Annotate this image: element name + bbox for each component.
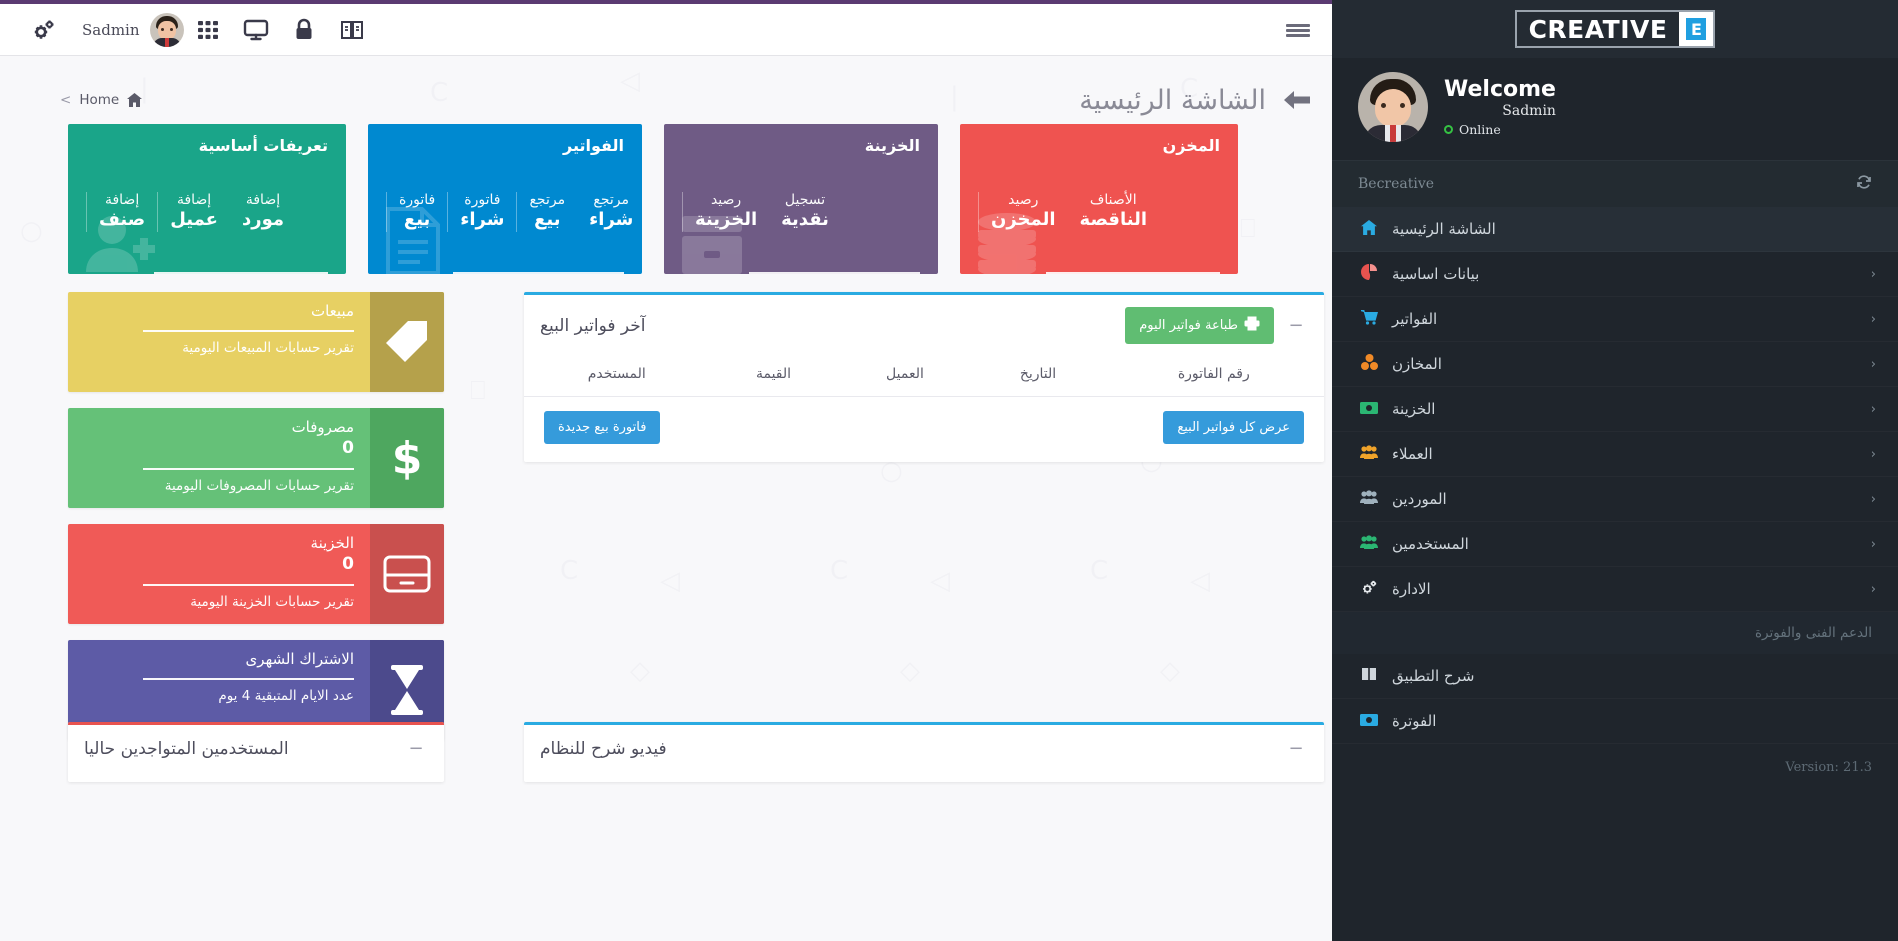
company-bar: Becreative (1332, 160, 1898, 207)
sidebar-item-label: العملاء (1392, 445, 1433, 463)
company-label: Becreative (1358, 176, 1434, 192)
kpi-card-treasury[interactable]: الخزينة رصيد الخزينة تسجيل نقدية (664, 124, 938, 274)
header-user-name: Sadmin (68, 21, 150, 39)
sidebar-section-support: الدعم الفنى والفوترة (1332, 612, 1898, 654)
minus-icon[interactable]: − (408, 740, 424, 758)
minus-icon[interactable]: − (1288, 317, 1304, 335)
users-icon (1358, 535, 1380, 553)
status-badge: Online (1444, 122, 1556, 137)
sidebar-item-label: المخازن (1392, 355, 1442, 373)
panel-title: آخر فواتير البيع (540, 316, 646, 336)
main-content: | C ◁ | C ○ ◇ ⎕ ⎕ ⎕ ○ · ○ ○ C C C ◁ ◁ ◁ … (0, 56, 1332, 941)
tile-title: الاشتراك الشهرى (84, 650, 354, 668)
kpi-columns: رصيد الخزينة تسجيل نقدية (682, 192, 920, 232)
money-icon (1358, 712, 1380, 730)
sidebar-item-label: الشاشة الرئيسية (1392, 220, 1496, 238)
cart-icon (1358, 310, 1380, 329)
book-icon (1358, 667, 1380, 685)
right-sidebar: E CREATIVE Welcome Sadmin Online Becreat… (1332, 0, 1898, 941)
kpi-col-line2: الخزينة (695, 209, 757, 232)
kpi-col-line1: تسجيل (781, 192, 829, 210)
dollar-icon: $ (370, 408, 444, 508)
chevron-left-icon: ‹ (1871, 312, 1876, 327)
kpi-columns: رصيد المخزن الأصناف الناقصة (978, 192, 1220, 232)
chevron-left-icon: ‹ (1871, 267, 1876, 282)
kpi-col-line1: الأصناف (1080, 192, 1147, 210)
cubes-icon (1358, 354, 1380, 374)
breadcrumb-chevron: < (60, 92, 71, 108)
new-sales-invoice-button[interactable]: فاتورة بيع جديدة (544, 411, 660, 444)
breadcrumb-row: < Home الشاشة الرئيسية (0, 72, 1332, 128)
sidebar-profile: Welcome Sadmin Online (1332, 58, 1898, 160)
kpi-col-store-balance[interactable]: رصيد المخزن (978, 192, 1068, 232)
tile-sales-report[interactable]: مبيعات تقرير حسابات المبيعات اليومية (68, 292, 444, 392)
kpi-col-line2: مورد (242, 209, 284, 232)
table-header-row: رقم الفاتورة التاريخ العميل القيمة المست… (524, 354, 1324, 397)
tile-treasury-report[interactable]: الخزينة 0 تقرير حسابات الخزينة اليومية (68, 524, 444, 624)
printer-icon (1244, 316, 1260, 335)
brand-logo[interactable]: E CREATIVE (1332, 0, 1898, 58)
users-icon (1358, 445, 1380, 463)
sidebar-item-billing[interactable]: الفوترة (1332, 699, 1898, 744)
logo-mark-icon: E (1679, 12, 1713, 46)
apps-grid-icon[interactable] (184, 4, 232, 56)
kpi-title: الخزينة (682, 136, 920, 155)
sidebar-item-label: الفوترة (1392, 712, 1436, 730)
col-date: التاريخ (972, 354, 1103, 397)
invoices-table: رقم الفاتورة التاريخ العميل القيمة المست… (524, 354, 1324, 397)
kpi-columns: فاتورة بيع فاتورة شراء مرتجع بيع مرتجع ش… (386, 192, 624, 232)
back-arrow-icon[interactable] (1282, 88, 1312, 112)
sidebar-item-label: الخزينة (1392, 400, 1435, 418)
kpi-columns: إضافة صنف إضافة عميل إضافة مورد (86, 192, 328, 232)
chevron-left-icon: ‹ (1871, 357, 1876, 372)
exchange-icon[interactable] (328, 4, 376, 56)
online-users-panel: المستخدمين المتواجدين حاليا − (68, 722, 444, 782)
monitor-icon[interactable] (232, 4, 280, 56)
latest-sales-invoices-panel: آخر فواتير البيع طباعة فواتير اليوم − (524, 292, 1324, 462)
sidebar-item-invoices[interactable]: الفواتير ‹ (1332, 297, 1898, 342)
users-icon (1358, 490, 1380, 508)
sidebar-item-label: بيانات اساسية (1392, 265, 1479, 283)
kpi-title: الفواتير (386, 136, 624, 155)
pie-chart-icon (1358, 264, 1380, 284)
col-value: القيمة (710, 354, 838, 397)
tile-value: 0 (84, 554, 354, 574)
money-icon (1358, 400, 1380, 418)
logo-text: CREATIVE (1517, 12, 1680, 46)
safe-icon (370, 524, 444, 624)
online-dot-icon (1444, 125, 1453, 134)
app-header: Sadmin (0, 4, 1332, 56)
kpi-col-treasury-balance[interactable]: رصيد الخزينة (682, 192, 769, 232)
hamburger-icon[interactable] (1286, 4, 1310, 56)
tile-divider (143, 584, 354, 586)
print-today-invoices-button[interactable]: طباعة فواتير اليوم (1125, 307, 1274, 344)
kpi-col-line1: إضافة (170, 192, 218, 210)
kpi-col-line2: الناقصة (1080, 209, 1147, 232)
kpi-card-definitions[interactable]: تعريفات أساسية إضافة صنف إضافة عميل إضاف… (68, 124, 346, 274)
tile-title: مبيعات (84, 302, 354, 320)
kpi-col-register-cash[interactable]: تسجيل نقدية (769, 192, 841, 232)
sidebar-item-administration[interactable]: الادارة ‹ (1332, 567, 1898, 612)
kpi-col-sales-invoice[interactable]: فاتورة بيع (386, 192, 447, 232)
lock-icon[interactable] (280, 4, 328, 56)
home-icon (127, 93, 142, 107)
sidebar-item-label: المستخدمين (1392, 535, 1469, 553)
home-icon (1358, 220, 1380, 239)
sidebar-item-basic-data[interactable]: بيانات اساسية ‹ (1332, 252, 1898, 297)
col-customer: العميل (838, 354, 973, 397)
tile-title: مصروفات (84, 418, 354, 436)
tile-subtitle: عدد الايام المتبقية 4 يوم (84, 688, 354, 704)
system-video-panel: فيديو شرح للنظام − (524, 722, 1324, 782)
kpi-col-line2: نقدية (781, 209, 829, 232)
sidebar-version: Version: 21.3 (1332, 744, 1898, 791)
kpi-col-line2: بيع (399, 209, 435, 232)
kpi-title: تعريفات أساسية (86, 136, 328, 155)
kpi-col-line2: صنف (99, 209, 145, 232)
minus-icon[interactable]: − (1288, 740, 1304, 758)
panel-footer: فاتورة بيع جديدة عرض كل فواتير البيع (524, 397, 1324, 462)
chevron-left-icon: ‹ (1871, 582, 1876, 597)
sidebar-item-customers[interactable]: العملاء ‹ (1332, 432, 1898, 477)
kpi-card-store[interactable]: المخزن رصيد المخزن الأصناف الناقصة (960, 124, 1238, 274)
breadcrumb-home-label[interactable]: Home (79, 92, 119, 108)
tile-subtitle: تقرير حسابات الخزينة اليومية (84, 594, 354, 610)
kpi-col-sales-return[interactable]: مرتجع بيع (516, 192, 577, 232)
page-title: الشاشة الرئيسية (1079, 85, 1266, 116)
kpi-card-invoices[interactable]: الفواتير فاتورة بيع فاتورة شراء مرتجع بي… (368, 124, 642, 274)
sidebar-item-suppliers[interactable]: الموردين ‹ (1332, 477, 1898, 522)
tile-title: الخزينة (84, 534, 354, 552)
tile-value: 0 (84, 438, 354, 458)
chevron-left-icon: ‹ (1871, 402, 1876, 417)
tile-divider (143, 330, 354, 332)
svg-text:$: $ (392, 434, 423, 482)
kpi-col-low-stock-items[interactable]: الأصناف الناقصة (1068, 192, 1159, 232)
sidebar-item-home[interactable]: الشاشة الرئيسية (1332, 207, 1898, 252)
kpi-col-line1: فاتورة (399, 192, 435, 210)
avatar[interactable] (150, 13, 184, 47)
kpi-underline (453, 272, 624, 274)
tile-subtitle: تقرير حسابات المصروفات اليومية (84, 478, 354, 494)
sidebar-item-warehouses[interactable]: المخازن ‹ (1332, 342, 1898, 387)
kpi-card-row: تعريفات أساسية إضافة صنف إضافة عميل إضاف… (68, 124, 1264, 274)
cogs-icon[interactable] (20, 4, 68, 56)
breadcrumb[interactable]: < Home (60, 92, 142, 108)
sidebar-item-app-guide[interactable]: شرح التطبيق (1332, 654, 1898, 699)
avatar[interactable] (1358, 72, 1428, 142)
print-button-label: طباعة فواتير اليوم (1139, 318, 1238, 333)
col-invoice-number: رقم الفاتورة (1104, 354, 1324, 397)
chevron-left-icon: ‹ (1871, 492, 1876, 507)
chevron-left-icon: ‹ (1871, 447, 1876, 462)
kpi-col-purchase-invoice[interactable]: فاتورة شراء (447, 192, 516, 232)
cogs-icon (1358, 579, 1380, 600)
sidebar-item-label: الادارة (1392, 580, 1431, 598)
kpi-col-line1: مرتجع (589, 192, 633, 210)
online-users-title: المستخدمين المتواجدين حاليا (84, 739, 289, 759)
col-user: المستخدم (524, 354, 710, 397)
kpi-col-line1: إضافة (99, 192, 145, 210)
tile-expenses-report[interactable]: مصروفات 0 تقرير حسابات المصروفات اليومية… (68, 408, 444, 508)
tag-icon (370, 292, 444, 392)
kpi-col-line2: شراء (589, 209, 633, 232)
video-panel-title: فيديو شرح للنظام (540, 739, 667, 759)
kpi-col-line2: عميل (170, 209, 218, 232)
report-tiles-column: مبيعات تقرير حسابات المبيعات اليومية مصر… (68, 292, 444, 740)
kpi-title: المخزن (978, 136, 1220, 155)
welcome-title: Welcome (1444, 77, 1556, 102)
kpi-col-add-customer[interactable]: إضافة عميل (157, 192, 230, 232)
kpi-col-line1: رصيد (695, 192, 757, 210)
kpi-underline (1046, 272, 1220, 274)
kpi-col-line1: مرتجع (529, 192, 565, 210)
profile-user-name: Sadmin (1444, 103, 1556, 119)
chevron-left-icon: ‹ (1871, 537, 1876, 552)
view-all-sales-invoices-button[interactable]: عرض كل فواتير البيع (1163, 411, 1304, 444)
panel-header: آخر فواتير البيع طباعة فواتير اليوم − (524, 295, 1324, 354)
sidebar-item-users[interactable]: المستخدمين ‹ (1332, 522, 1898, 567)
kpi-col-add-item[interactable]: إضافة صنف (86, 192, 157, 232)
kpi-col-purchase-return[interactable]: مرتجع شراء (577, 192, 642, 232)
sidebar-item-label: شرح التطبيق (1392, 667, 1474, 685)
sidebar-item-treasury[interactable]: الخزينة ‹ (1332, 387, 1898, 432)
kpi-col-add-supplier[interactable]: إضافة مورد (230, 192, 296, 232)
kpi-col-line2: المخزن (991, 209, 1056, 232)
kpi-col-line1: رصيد (991, 192, 1056, 210)
kpi-col-line1: فاتورة (460, 192, 504, 210)
tile-divider (143, 468, 354, 470)
tile-subtitle: تقرير حسابات المبيعات اليومية (84, 340, 354, 356)
kpi-col-line2: بيع (529, 209, 565, 232)
tile-divider (143, 678, 354, 680)
kpi-underline (154, 272, 328, 274)
kpi-col-line1: إضافة (242, 192, 284, 210)
refresh-icon[interactable] (1856, 174, 1872, 194)
kpi-col-line2: شراء (460, 209, 504, 232)
logo-mark-letter: E (1686, 18, 1706, 40)
sidebar-item-label: الموردين (1392, 490, 1447, 508)
kpi-underline (749, 272, 920, 274)
status-label: Online (1459, 122, 1501, 137)
sidebar-item-label: الفواتير (1392, 310, 1437, 328)
